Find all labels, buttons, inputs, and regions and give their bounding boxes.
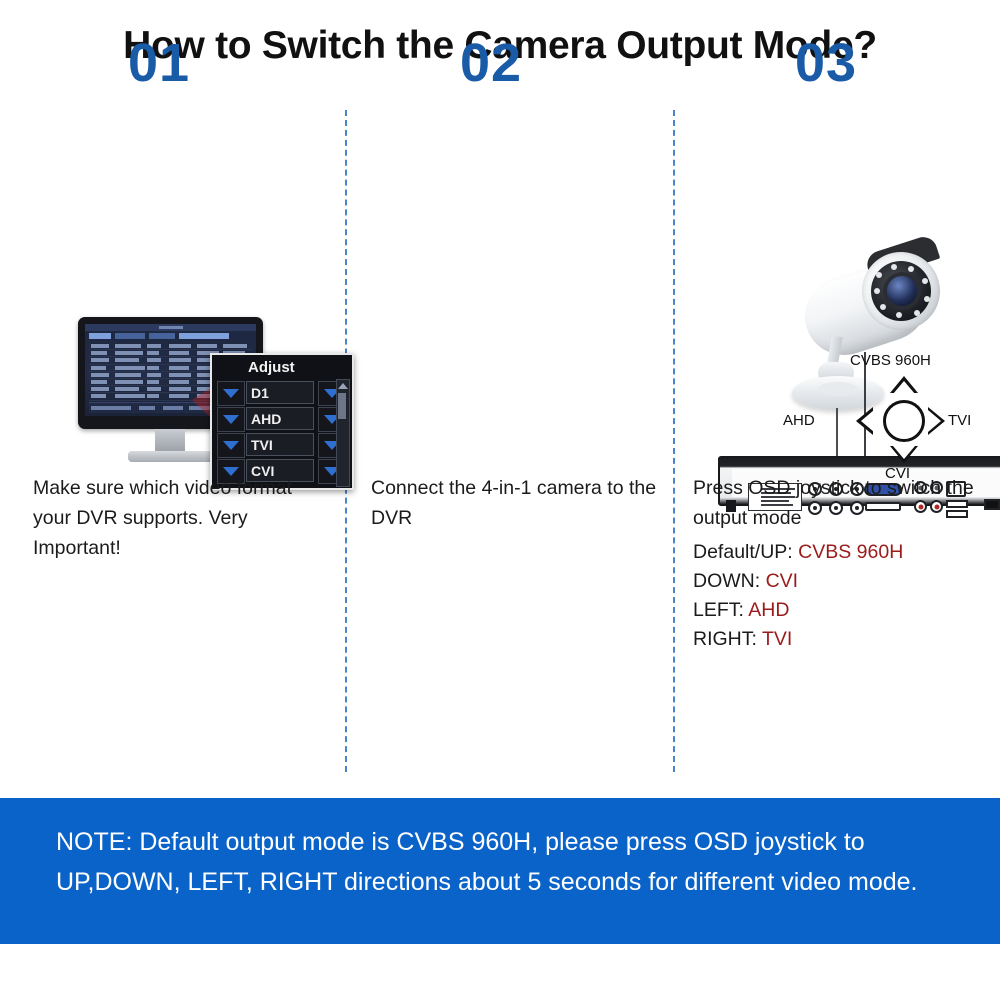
mode-list: Default/UP: CVBS 960H DOWN: CVI LEFT: AH… [693, 538, 983, 654]
mode-direction-left: LEFT: [693, 599, 744, 621]
mode-row-up: Default/UP: CVBS 960H [693, 538, 983, 567]
chevron-up-icon[interactable] [338, 383, 348, 389]
diagram-label-right: TVI [948, 412, 971, 429]
monitor-stand-neck [155, 429, 185, 451]
adjust-value-d1: D1 [246, 381, 314, 404]
mode-row-left: LEFT: AHD [693, 596, 983, 625]
adjust-menu-panel: Adjust D1 AHD TVI [210, 353, 354, 490]
mode-value-right: TVI [762, 628, 792, 650]
adjust-menu-scrollbar[interactable] [336, 379, 350, 487]
mode-direction-up: Default/UP: [693, 541, 793, 563]
diagram-joystick-circle [883, 400, 925, 442]
step-panel-1: Adjust D1 AHD TVI [20, 110, 340, 780]
step-number-3: 03 [795, 36, 857, 90]
mode-value-left: AHD [748, 599, 789, 621]
diagram-label-left: AHD [783, 412, 815, 429]
mode-row-down: DOWN: CVI [693, 567, 983, 596]
chevron-down-icon[interactable] [217, 381, 245, 406]
scrollbar-thumb[interactable] [338, 393, 346, 419]
step-panel-2 [355, 110, 675, 780]
diagram-label-up: CVBS 960H [850, 352, 931, 369]
adjust-menu-header: Adjust [248, 358, 332, 378]
chevron-down-icon[interactable] [217, 433, 245, 458]
mode-value-down: CVI [766, 570, 799, 592]
step-1-caption: Make sure which video format your DVR su… [33, 473, 333, 563]
step-1-artwork: Adjust D1 AHD TVI [40, 305, 360, 495]
adjust-row-tvi[interactable]: TVI [214, 433, 350, 458]
note-text: NOTE: Default output mode is CVBS 960H, … [56, 822, 946, 902]
mode-direction-right: RIGHT: [693, 628, 757, 650]
screen-titlebar [85, 324, 256, 331]
step-number-2: 02 [460, 36, 522, 90]
mode-value-up: CVBS 960H [798, 541, 903, 563]
step-3-caption: Press OSD joystick to switch the output … [693, 473, 978, 533]
adjust-row-d1[interactable]: D1 [214, 381, 350, 406]
joystick-direction-diagram: CVBS 960H AHD TVI CVI [828, 352, 978, 488]
mode-row-right: RIGHT: TVI [693, 625, 983, 654]
infographic-page: How to Switch the Camera Output Mode? [0, 0, 1000, 1000]
note-banner: NOTE: Default output mode is CVBS 960H, … [0, 798, 1000, 944]
step-number-1: 01 [128, 36, 190, 90]
adjust-value-tvi: TVI [246, 433, 314, 456]
step-2-caption: Connect the 4-in-1 camera to the DVR [371, 473, 661, 533]
mode-direction-down: DOWN: [693, 570, 760, 592]
chevron-down-icon[interactable] [217, 407, 245, 432]
screen-tabs [89, 333, 229, 339]
adjust-row-ahd[interactable]: AHD [214, 407, 350, 432]
adjust-value-ahd: AHD [246, 407, 314, 430]
